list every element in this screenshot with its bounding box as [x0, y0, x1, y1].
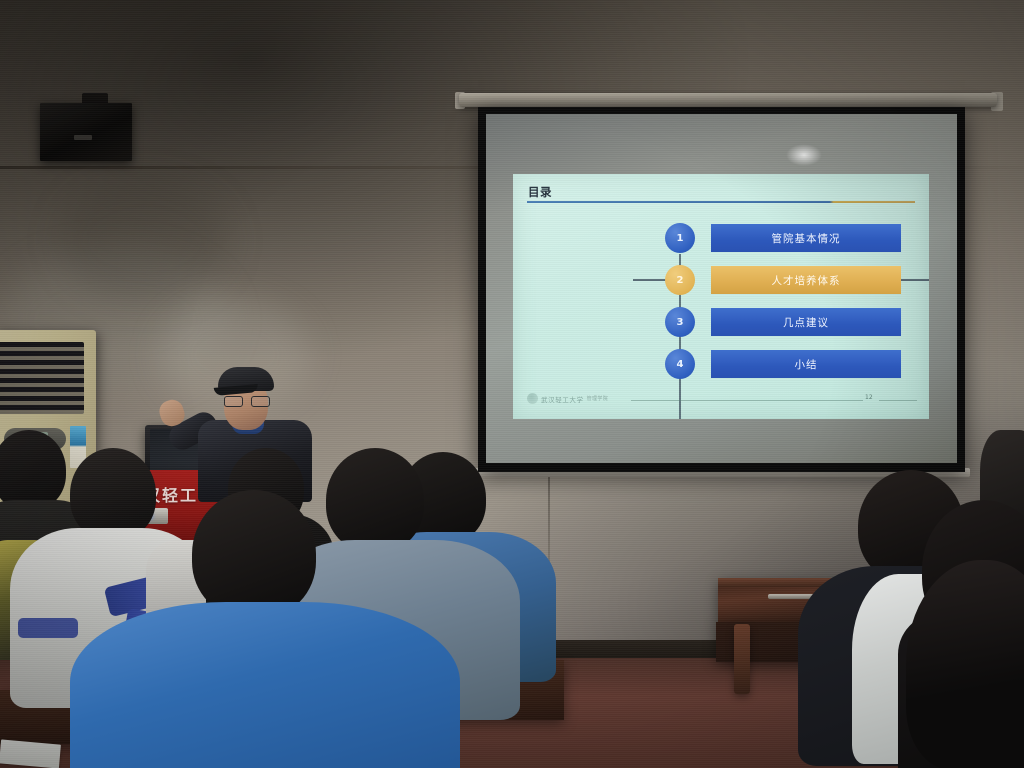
university-name: 武汉轻工大学 [541, 394, 584, 404]
wall-speaker [40, 103, 132, 161]
toc-number-2: 2 [665, 265, 695, 295]
toc-number-4: 4 [665, 349, 695, 379]
presentation-slide: 目录 1 管院基本情况 2 人才培养体系 3 [513, 174, 929, 419]
university-logo: 武汉轻工大学 管理学院 [527, 393, 608, 404]
chair-back-right2 [734, 624, 750, 694]
classroom-photo: 目录 1 管院基本情况 2 人才培养体系 3 [0, 0, 1024, 768]
air-conditioner-grille [0, 342, 84, 414]
presenter-glasses-icon [224, 396, 268, 405]
toc-tick-right [899, 279, 929, 281]
toc-item-3[interactable]: 3 几点建议 [573, 302, 913, 344]
toc-item-1[interactable]: 1 管院基本情况 [573, 218, 913, 260]
hoodie-stripe [18, 618, 78, 638]
toc-number-1: 1 [665, 223, 695, 253]
speaker-logo [74, 135, 92, 140]
slide-title: 目录 [528, 184, 552, 200]
toc-label-3: 几点建议 [711, 308, 901, 336]
wall-stain [60, 180, 230, 300]
projector-hotspot [786, 144, 822, 166]
toc-label-2: 人才培养体系 [711, 266, 901, 294]
slide-toc-list: 1 管院基本情况 2 人才培养体系 3 几点建议 4 [573, 218, 913, 386]
toc-label-4: 小结 [711, 350, 901, 378]
university-crest-icon [527, 393, 538, 404]
student-blue-shirt-front [130, 490, 410, 768]
screen-roller-housing [459, 93, 997, 107]
desk-handle [768, 594, 814, 599]
slide-footer: 武汉轻工大学 管理学院 12 [527, 392, 917, 408]
toc-number-3: 3 [665, 307, 695, 337]
toc-label-1: 管院基本情况 [711, 224, 901, 252]
student-long-hair-right [912, 500, 1024, 768]
footer-rule [631, 400, 863, 401]
footer-rule-right [879, 400, 917, 401]
handout-paper [0, 739, 61, 768]
toc-item-4[interactable]: 4 小结 [573, 344, 913, 386]
toc-item-2[interactable]: 2 人才培养体系 [573, 260, 913, 302]
school-name: 管理学院 [587, 395, 609, 402]
toc-tick-left [633, 279, 667, 281]
slide-page-number: 12 [865, 394, 873, 401]
projection-surface: 目录 1 管院基本情况 2 人才培养体系 3 [486, 114, 957, 463]
wall-cable [548, 470, 550, 570]
projection-screen: 目录 1 管院基本情况 2 人才培养体系 3 [478, 107, 965, 472]
slide-title-rule [527, 201, 915, 203]
